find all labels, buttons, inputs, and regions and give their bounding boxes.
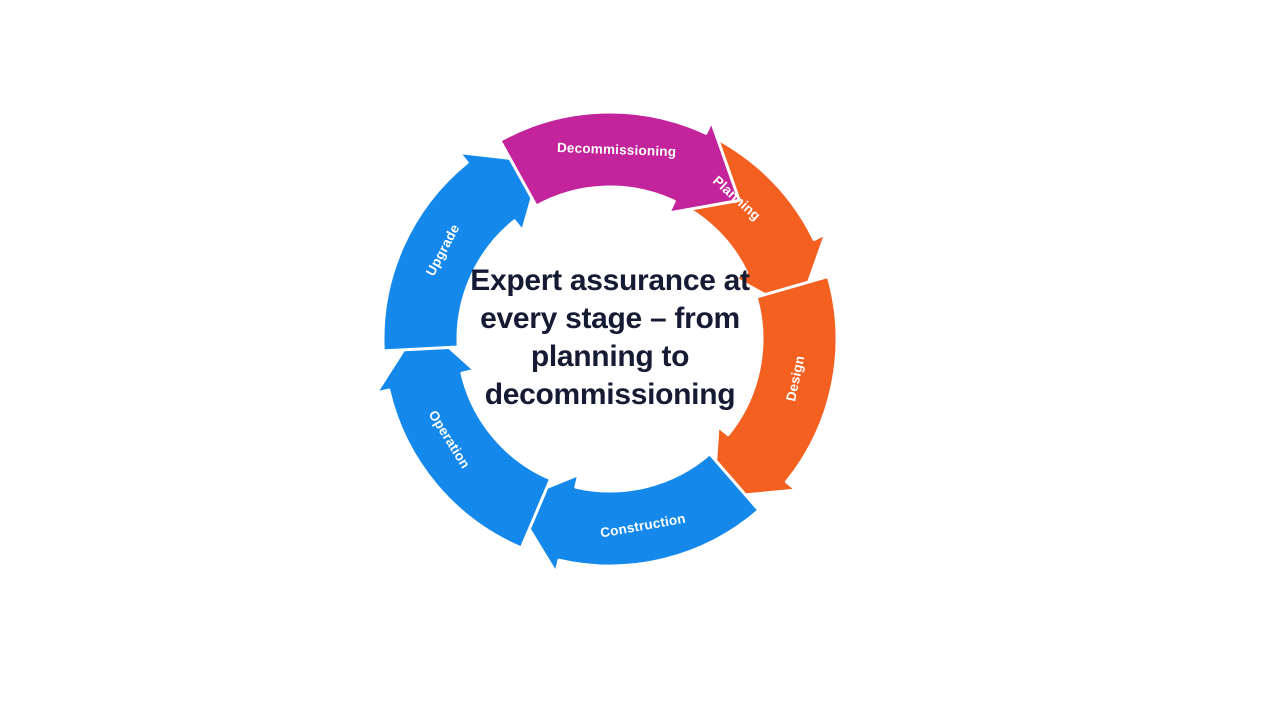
cycle-segment-decommissioning[interactable]: [500, 112, 739, 213]
center-text-line-2: every stage – from: [450, 300, 770, 338]
cycle-segment-construction[interactable]: [512, 454, 759, 573]
center-text-line-3: planning to: [450, 338, 770, 376]
center-text-line-1: Expert assurance at: [450, 262, 770, 300]
center-text-block: Expert assurance at every stage – from p…: [450, 262, 770, 414]
diagram-canvas: PlanningDesignConstructionOperationUpgra…: [0, 0, 1280, 720]
center-text-line-4: decommissioning: [450, 376, 770, 414]
